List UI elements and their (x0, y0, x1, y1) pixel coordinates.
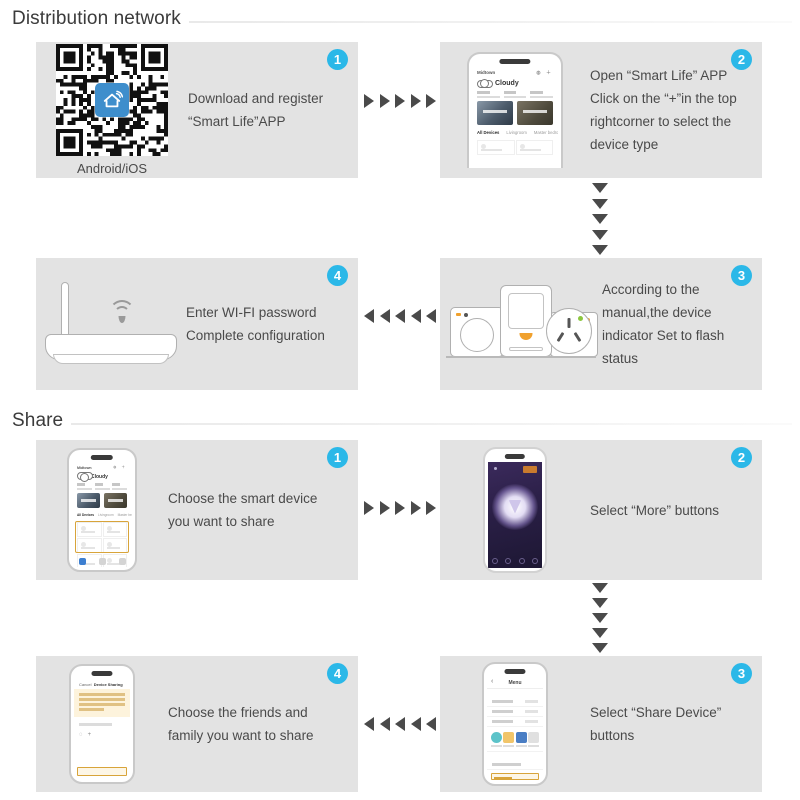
router-artwork (36, 278, 186, 370)
connector-arrows-left-2 (364, 716, 436, 732)
section-label (487, 752, 543, 760)
section-header-distribution-network: Distribution network (12, 8, 792, 30)
phone-notch (91, 455, 113, 460)
app-topbar: Midtown ◍ ＋ (72, 463, 132, 472)
panel-text: According to the manual,the device indic… (602, 278, 762, 370)
action-icon-share[interactable] (491, 732, 502, 747)
panel-text: Select “Share Device” buttons (590, 701, 762, 747)
screen-header: Cancel Device Sharing (74, 679, 130, 689)
section-label (487, 689, 543, 697)
app-home-name: Midtown (77, 466, 92, 470)
text-line: manual,the device (602, 301, 748, 324)
appliances-artwork (440, 278, 602, 370)
app-room-tabs: All Devices Livingroom Master bedro... ·… (472, 125, 558, 137)
app-topbar-icons: ◍ ＋ (536, 69, 553, 76)
app-topbar: Midtown ◍ ＋ (472, 67, 558, 78)
metric (77, 483, 92, 490)
arrow-left-icon (411, 309, 421, 323)
room-tab: Livingroom (506, 130, 526, 135)
arrow-right-icon (395, 94, 405, 108)
info-note (74, 689, 130, 717)
phone-screen: Midtown ◍ ＋ Cloudy (472, 67, 558, 165)
step-badge: 3 (731, 663, 752, 684)
phone-screen: Cancel Device Sharing ◌ + (74, 679, 130, 779)
action-icon-automation[interactable] (503, 732, 514, 747)
qr-caption: Android/iOS (56, 161, 168, 176)
arrow-right-icon (411, 501, 421, 515)
arrow-down-icon (592, 613, 608, 623)
panel-text: Choose the friends and family you want t… (168, 701, 358, 747)
text-line: Enter WI-FI password (186, 301, 344, 324)
metric (504, 91, 527, 98)
screen-title: Menu (487, 677, 543, 689)
phone-notch (91, 671, 112, 676)
text-line: indicator Set to flash (602, 324, 748, 347)
connector-arrows-left-1 (364, 308, 436, 324)
room-tab: Master bedro... (534, 130, 558, 135)
arrow-right-icon (380, 501, 390, 515)
step-badge: 1 (327, 447, 348, 468)
text-line: Select “Share Device” (590, 701, 748, 724)
settings-row[interactable] (487, 697, 543, 707)
cloud-icon (477, 79, 491, 88)
connector-arrows-down-1 (591, 183, 609, 255)
step-badge: 2 (731, 447, 752, 468)
app-room-tabs: All Devices Livingroom Master bedro... (72, 508, 132, 519)
metric (112, 483, 127, 490)
text-line: Choose the smart device (168, 487, 344, 510)
app-banner-cards (472, 101, 558, 125)
room-tab: All Devices (77, 513, 94, 517)
settings-row[interactable] (487, 717, 543, 727)
step-badge: 2 (731, 49, 752, 70)
washing-machine-icon (450, 307, 504, 357)
banner-card (477, 101, 513, 125)
qr-code-icon (56, 44, 168, 156)
arrow-right-icon (411, 94, 421, 108)
room-tab: Livingroom (98, 513, 114, 517)
section-divider (189, 21, 792, 23)
weather-label: Cloudy (495, 80, 519, 87)
section-header-share: Share (12, 410, 792, 432)
arrow-right-icon (380, 94, 390, 108)
router-base (53, 354, 169, 364)
text-line: Download and register (188, 87, 344, 110)
phone-artwork-dark (440, 447, 590, 573)
arrow-down-icon (592, 583, 608, 593)
arrow-down-icon (592, 643, 608, 653)
selection-highlight (75, 521, 129, 553)
text-line: Choose the friends and (168, 701, 344, 724)
infographic-page: Distribution network 1 A (0, 0, 800, 800)
panel-share-step-3[interactable]: 3 Menu (440, 656, 762, 792)
nav-scene-icon (99, 558, 106, 565)
phone-artwork-device-list: Midtown ◍ ＋ Cloudy (36, 448, 168, 572)
text-line: you want to share (168, 510, 344, 533)
metric (530, 91, 553, 98)
device-cell (477, 140, 515, 155)
arrow-down-icon (592, 199, 608, 209)
text-line: buttons (590, 724, 748, 747)
quick-action-icons (487, 727, 543, 752)
settings-row[interactable] (487, 707, 543, 717)
text-line: device type (590, 133, 748, 156)
arrow-left-icon (364, 309, 374, 323)
arrow-down-icon (592, 230, 608, 240)
arrow-right-icon (426, 501, 436, 515)
wifi-signal-icon (107, 300, 137, 324)
metric (477, 91, 500, 98)
section-divider (71, 423, 792, 425)
step-badge: 1 (327, 49, 348, 70)
connector-arrows-right-1 (364, 93, 436, 109)
smart-devices-icon (446, 278, 596, 370)
refrigerator-icon (500, 285, 552, 357)
banner-card (104, 493, 127, 508)
device-cell (516, 140, 554, 155)
confirm-button[interactable] (77, 767, 127, 776)
settings-row[interactable] (487, 760, 543, 770)
panel-text: Download and register “Smart Life”APP (188, 87, 358, 133)
phone-mockup: Cancel Device Sharing ◌ + (69, 664, 135, 784)
panel-text: Open “Smart Life” APP Click on the “+”in… (590, 64, 762, 156)
phone-mockup: Midtown ◍ ＋ Cloudy (67, 448, 137, 572)
phone-screen: Midtown ◍ ＋ Cloudy (72, 463, 132, 567)
section-title: Share (12, 410, 63, 432)
app-banner-cards (72, 493, 132, 508)
panel-share-step-1[interactable]: 1 Midtown ◍ ＋ Cloudy (36, 440, 358, 580)
nav-icon (505, 558, 511, 564)
phone-artwork-sharing: Cancel Device Sharing ◌ + (36, 664, 168, 784)
panel-dn-step-1[interactable]: 1 Android/iOS Downlo (36, 42, 358, 178)
arrow-left-icon (426, 309, 436, 323)
contact-list[interactable]: ◌ + (74, 728, 130, 742)
panel-text: Enter WI-FI password Complete configurat… (186, 301, 358, 347)
app-home-name: Midtown (477, 70, 495, 75)
text-line: Select “More” buttons (590, 499, 748, 522)
arrow-right-icon (426, 94, 436, 108)
panel-dn-step-4[interactable]: 4 Enter WI-FI password Complete configur… (36, 258, 358, 390)
phone-notch (505, 454, 525, 459)
panel-text: Choose the smart device you want to shar… (168, 487, 358, 533)
room-tab: Master bedro... (118, 513, 132, 517)
arrow-left-icon (411, 717, 421, 731)
share-device-row-highlight[interactable] (491, 773, 539, 780)
wifi-router-icon (45, 278, 177, 370)
nav-icon (492, 558, 498, 564)
phone-mockup: Menu (482, 662, 548, 786)
app-device-grid (472, 137, 558, 155)
arrow-down-icon (592, 214, 608, 224)
nav-profile-icon (119, 558, 126, 565)
connector-arrows-right-2 (364, 500, 436, 516)
arrow-down-icon (592, 245, 608, 255)
light-glow-icon (492, 484, 538, 530)
text-line: family you want to share (168, 724, 344, 747)
add-contact-icon[interactable]: + (88, 732, 92, 738)
panel-dn-step-2[interactable]: 2 Midtown ◍ ＋ Cloudy (440, 42, 762, 178)
step-badge: 4 (327, 265, 348, 286)
phone-screen: Menu (487, 677, 543, 781)
step-badge: 4 (327, 663, 348, 684)
app-weather-metrics (472, 90, 558, 101)
help-link[interactable] (74, 720, 130, 728)
banner-card (77, 493, 100, 508)
smart-socket-icon (546, 308, 592, 354)
arrow-left-icon (395, 309, 405, 323)
status-dot-icon (494, 467, 497, 470)
action-icon-more[interactable] (528, 732, 539, 747)
qr-artwork: Android/iOS (36, 44, 188, 176)
arrow-left-icon (426, 717, 436, 731)
app-weather-metrics (72, 482, 132, 493)
router-antenna (61, 282, 69, 340)
cancel-button[interactable]: Cancel (79, 682, 91, 687)
phone-screen (488, 462, 542, 568)
phone-artwork-home: Midtown ◍ ＋ Cloudy (440, 52, 590, 168)
nav-icon (532, 558, 538, 564)
arrow-left-icon (395, 717, 405, 731)
arrow-down-icon (592, 183, 608, 193)
arrow-down-icon (592, 598, 608, 608)
smart-life-logo-icon (95, 83, 129, 117)
arrow-left-icon (380, 717, 390, 731)
app-bottom-nav (488, 558, 542, 564)
panel-share-step-2[interactable]: 2 Select “More” buttons (440, 440, 762, 580)
phone-notch (504, 669, 525, 674)
app-weather-row: Cloudy (72, 472, 132, 482)
weather-label: Cloudy (91, 474, 108, 480)
text-line: According to the (602, 278, 748, 301)
arrow-down-icon (592, 628, 608, 638)
action-icon-faq[interactable] (516, 732, 527, 747)
metric (95, 483, 110, 490)
section-title: Distribution network (12, 8, 181, 30)
connector-arrows-down-2 (591, 583, 609, 653)
text-line: Click on the “+”in the top (590, 87, 748, 110)
text-line: rightcorner to select the (590, 110, 748, 133)
text-line: status (602, 347, 748, 370)
arrow-right-icon (364, 501, 374, 515)
panel-share-step-4[interactable]: 4 Cancel Device Sharing ◌ + (36, 656, 358, 792)
text-line: Open “Smart Life” APP (590, 64, 748, 87)
arrow-right-icon (364, 94, 374, 108)
nav-icon (519, 558, 525, 564)
phone-mockup (483, 447, 547, 573)
banner-card (517, 101, 553, 125)
ground-line (446, 356, 596, 358)
screen-title: Device Sharing (94, 682, 123, 687)
contact-avatar-icon[interactable]: ◌ (79, 732, 83, 738)
app-topbar-icons: ◍ ＋ (113, 465, 127, 470)
phone-notch (499, 59, 530, 64)
nav-home-icon (79, 558, 86, 565)
app-weather-row: Cloudy (472, 78, 558, 90)
cloud-icon (77, 473, 87, 480)
phone-mockup: Midtown ◍ ＋ Cloudy (467, 52, 563, 168)
panel-dn-step-3[interactable]: 3 According to the manual,the device ind… (440, 258, 762, 390)
text-line: Complete configuration (186, 324, 344, 347)
more-button-highlight (523, 466, 537, 473)
phone-artwork-menu: Menu (440, 662, 590, 786)
room-tab: All Devices (477, 130, 499, 135)
step-badge: 3 (731, 265, 752, 286)
app-bottom-nav (72, 558, 132, 565)
text-line: “Smart Life”APP (188, 110, 344, 133)
panel-text: Select “More” buttons (590, 499, 762, 522)
arrow-left-icon (380, 309, 390, 323)
arrow-left-icon (364, 717, 374, 731)
arrow-right-icon (395, 501, 405, 515)
